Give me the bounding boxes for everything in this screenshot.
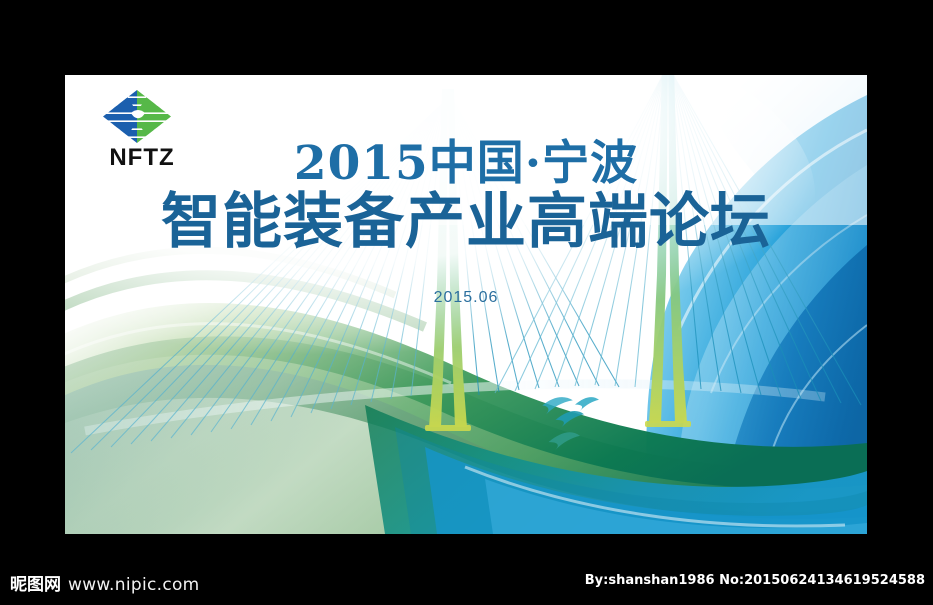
- poster-title-line-2: 智能装备产业高端论坛: [65, 189, 867, 255]
- watermark-footer-bar: 昵图网 www.nipic.com By:shanshan1986 No:201…: [0, 560, 933, 605]
- poster-title-group: 2015中国·宁波 智能装备产业高端论坛: [65, 137, 867, 255]
- watermark-credit-text: By:shanshan1986 No:20150624134619524588: [585, 573, 925, 588]
- nftz-diamond-globe-logo: [101, 89, 173, 144]
- poster-date: 2015.06: [65, 289, 867, 307]
- watermark-site-name-cn: 昵图网: [10, 570, 61, 595]
- poster-title-line-1: 2015中国·宁波: [65, 137, 867, 191]
- watermark-site-url: www.nipic.com: [68, 575, 200, 595]
- watermark-brand: 昵图网 www.nipic.com: [10, 570, 200, 595]
- screenshot-root: NFTZ 2015中国·宁波 智能装备产业高端论坛 2015.06 昵图网 ww…: [0, 0, 933, 605]
- poster-canvas: NFTZ 2015中国·宁波 智能装备产业高端论坛 2015.06: [65, 75, 867, 534]
